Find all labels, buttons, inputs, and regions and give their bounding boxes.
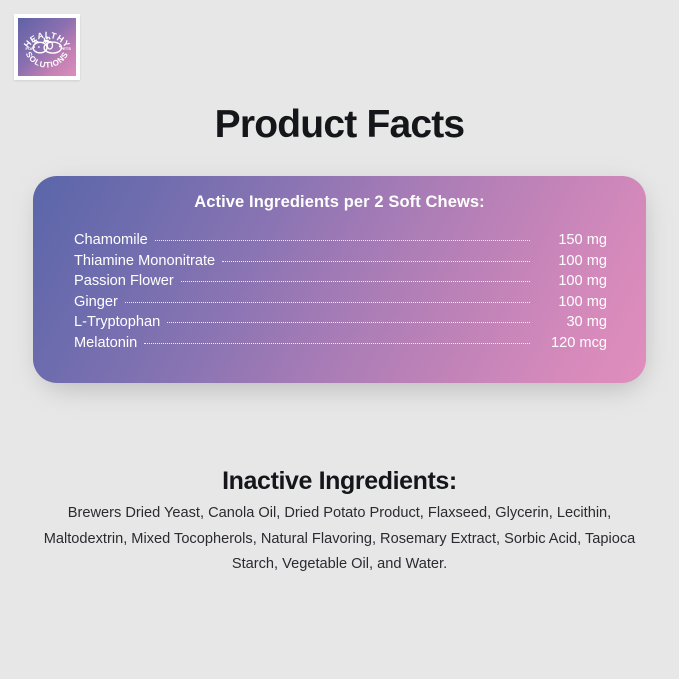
ingredient-name: Chamomile [74, 230, 148, 251]
inactive-ingredients-body: Brewers Dried Yeast, Canola Oil, Dried P… [40, 501, 639, 578]
ingredient-name: Passion Flower [74, 271, 174, 292]
ingredient-row: L-Tryptophan 30 mg [74, 312, 607, 333]
ingredient-row: Melatonin 120 mcg [74, 333, 607, 354]
leader-dots [181, 281, 530, 282]
ingredient-row: Ginger 100 mg [74, 292, 607, 313]
leader-dots [222, 261, 530, 262]
leader-dots [144, 343, 530, 344]
ingredient-row: Passion Flower 100 mg [74, 271, 607, 292]
ingredient-amount: 120 mcg [535, 333, 607, 354]
active-ingredients-panel: Active Ingredients per 2 Soft Chews: Cha… [33, 176, 646, 383]
active-ingredients-title: Active Ingredients per 2 Soft Chews: [33, 193, 646, 212]
ingredient-amount: 100 mg [535, 292, 607, 313]
leader-dots [155, 240, 530, 241]
active-ingredients-list: Chamomile 150 mg Thiamine Mononitrate 10… [74, 230, 607, 354]
ingredient-amount: 100 mg [535, 251, 607, 272]
inactive-ingredients-title: Inactive Ingredients: [0, 467, 679, 496]
brand-logo: HEALTHY SOLUTIONS FOR PETS [14, 14, 80, 80]
active-ingredients-card: Active Ingredients per 2 Soft Chews: Cha… [33, 176, 646, 383]
ingredient-amount: 30 mg [535, 312, 607, 333]
ingredient-row: Chamomile 150 mg [74, 230, 607, 251]
ingredient-name: Thiamine Mononitrate [74, 251, 215, 272]
leader-dots [125, 302, 530, 303]
page-title: Product Facts [0, 103, 679, 147]
ingredient-name: Melatonin [74, 333, 137, 354]
ingredient-name: L-Tryptophan [74, 312, 160, 333]
svg-text:SOLUTIONS: SOLUTIONS [24, 50, 70, 70]
ingredient-amount: 150 mg [535, 230, 607, 251]
brand-logo-artwork: HEALTHY SOLUTIONS FOR PETS [18, 18, 76, 76]
ingredient-amount: 100 mg [535, 271, 607, 292]
ingredient-row: Thiamine Mononitrate 100 mg [74, 251, 607, 272]
leader-dots [167, 322, 530, 323]
ingredient-name: Ginger [74, 292, 118, 313]
healthy-solutions-pets-logo-icon: HEALTHY SOLUTIONS FOR PETS [18, 18, 76, 76]
